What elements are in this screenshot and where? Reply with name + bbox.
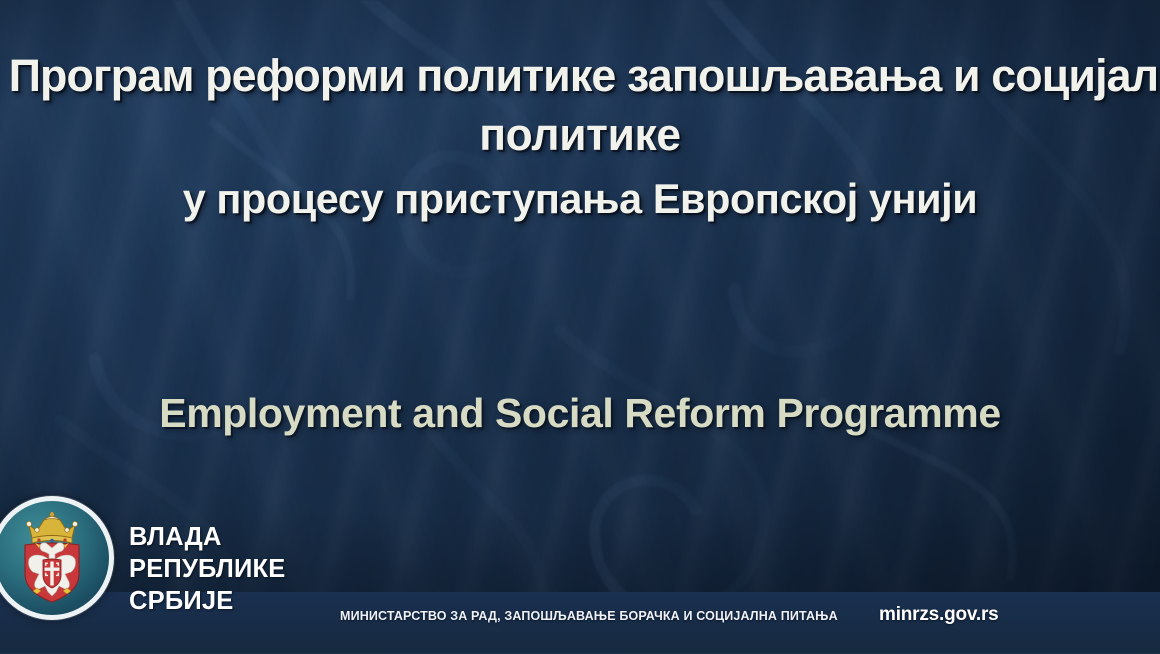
title-line-3: у процесу приступања Европској унији [9, 177, 1152, 221]
title-line-1: Програм реформи политике запошљавања и с… [9, 52, 1152, 99]
slide-title-cyrillic: Програм реформи политике запошљавања и с… [0, 52, 1160, 221]
serbia-coat-of-arms-icon [15, 512, 89, 604]
presentation-slide: Програм реформи политике запошљавања и с… [0, 0, 1160, 654]
title-english-line: Employment and Social Reform Programme [159, 390, 1000, 437]
gov-line-2: РЕПУБЛИКЕ [129, 553, 286, 585]
gov-line-3: СРБИЈЕ [129, 585, 286, 617]
gov-line-1: ВЛАДА [129, 521, 286, 553]
government-wordmark: ВЛАДА РЕПУБЛИКЕ СРБИЈЕ [129, 521, 286, 617]
slide-title-english: Employment and Social Reform Programme [0, 390, 1160, 437]
website-url-label[interactable]: minrzs.gov.rs [879, 604, 999, 626]
title-line-2: политике [9, 112, 1152, 159]
government-emblem [0, 496, 114, 620]
ministry-name-label: МИНИСТАРСТВО ЗА РАД, ЗАПОШЉАВАЊЕ БОРАЧКА… [340, 609, 838, 623]
